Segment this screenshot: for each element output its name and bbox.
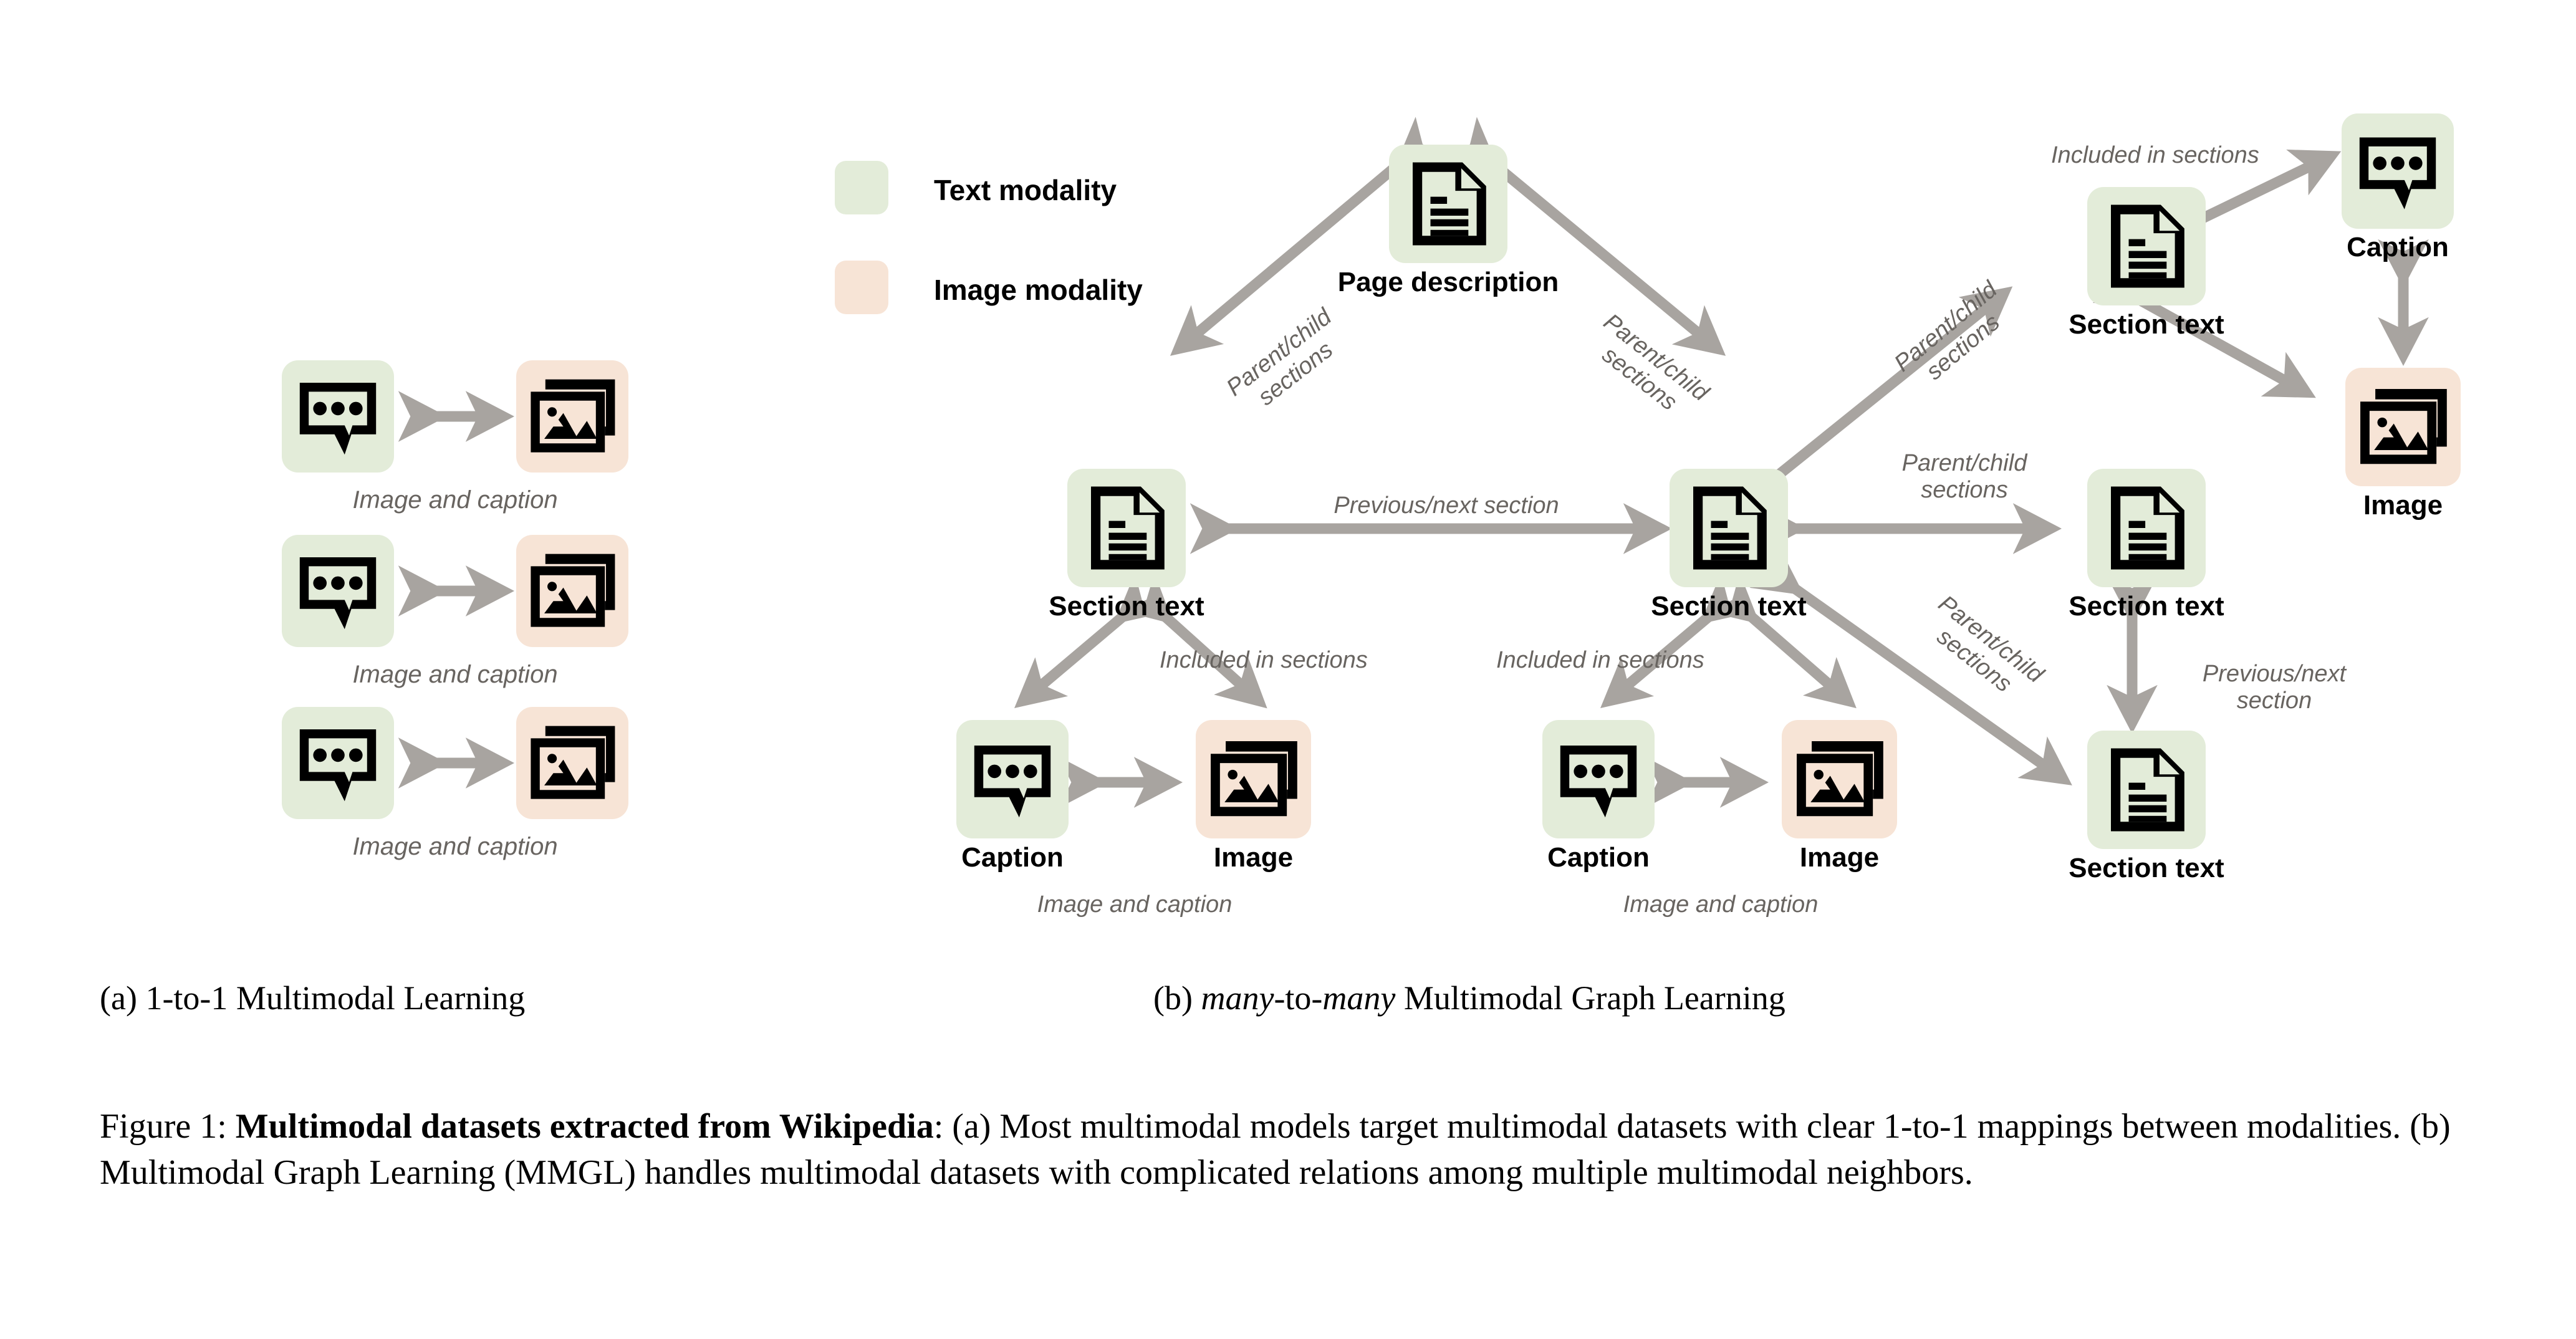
- legend-swatch-text: [835, 161, 888, 214]
- panel-a-row3-edge-label: Image and caption: [282, 833, 628, 861]
- panel-a-row1-edge-label: Image and caption: [282, 486, 628, 514]
- subcaption-a-prefix: (a): [100, 979, 137, 1017]
- panel-a-row1-image-node[interactable]: [516, 360, 628, 473]
- speech-bubble-icon: [282, 535, 394, 647]
- node-section-text-upper-right[interactable]: Section text: [2087, 187, 2206, 305]
- edge-label-previous-next-middle: Previous/next section: [1297, 492, 1596, 519]
- speech-bubble-icon: [1542, 720, 1655, 838]
- subcaption-panel-b: (b) many-to-many Multimodal Graph Learni…: [1153, 979, 1785, 1017]
- node-image-middle[interactable]: Image: [1782, 720, 1897, 838]
- node-label-image-right: Image: [2363, 490, 2443, 521]
- node-caption-right[interactable]: Caption: [2342, 113, 2454, 229]
- node-label-section-text-right: Section text: [2069, 591, 2224, 622]
- node-section-text-bottom-right[interactable]: Section text: [2087, 731, 2206, 849]
- edge-label-parent-child-right: Parent/child sections: [1862, 450, 2067, 503]
- panel-a-row3-image-node[interactable]: [516, 707, 628, 819]
- arrow-seccenter-imgmid: [1752, 617, 1848, 701]
- node-section-text-right[interactable]: Section text: [2087, 469, 2206, 587]
- panel-a-row2-caption-node[interactable]: [282, 535, 394, 647]
- node-page-description[interactable]: Page description: [1389, 145, 1507, 263]
- edge-label-included-in-sections-upper-right: Included in sections: [2051, 142, 2259, 169]
- node-label-image-left: Image: [1214, 842, 1293, 873]
- subcaption-b-mid: -to-: [1274, 979, 1322, 1017]
- node-label-image-middle: Image: [1800, 842, 1879, 873]
- subcaption-panel-a: (a) 1-to-1 Multimodal Learning: [100, 979, 525, 1017]
- node-label-page-description: Page description: [1338, 267, 1559, 298]
- node-label-caption-left: Caption: [961, 842, 1064, 873]
- node-label-section-text-bottom-right: Section text: [2069, 853, 2224, 884]
- legend-label-text: Text modality: [934, 173, 1117, 207]
- image-stack-icon: [1782, 720, 1897, 838]
- legend-label-image: Image modality: [934, 273, 1143, 307]
- figure-root: Text modality Image modality Image and c…: [0, 0, 2576, 1339]
- document-icon: [1067, 469, 1186, 587]
- node-caption-left[interactable]: Caption: [956, 720, 1069, 838]
- image-stack-icon: [516, 360, 628, 473]
- edge-label-included-in-sections-left: Included in sections: [1160, 647, 1368, 674]
- node-label-caption-middle: Caption: [1547, 842, 1650, 873]
- subcaption-b-italic-1: many: [1201, 979, 1274, 1017]
- node-label-section-text-upper-right: Section text: [2069, 309, 2224, 340]
- speech-bubble-icon: [282, 707, 394, 819]
- document-icon: [1670, 469, 1788, 587]
- legend-swatch-image: [835, 261, 888, 314]
- speech-bubble-icon: [956, 720, 1069, 838]
- subcaption-b-tail: Multimodal Graph Learning: [1395, 979, 1785, 1017]
- subcaption-a-text: 1-to-1 Multimodal Learning: [145, 979, 525, 1017]
- node-image-right[interactable]: Image: [2345, 368, 2461, 486]
- figure-caption: Figure 1: Multimodal datasets extracted …: [100, 1103, 2487, 1196]
- node-image-left[interactable]: Image: [1196, 720, 1311, 838]
- node-section-text-left[interactable]: Section text: [1067, 469, 1186, 587]
- node-label-section-text-center: Section text: [1651, 591, 1806, 622]
- document-icon: [2087, 187, 2206, 305]
- image-stack-icon: [2345, 368, 2461, 486]
- speech-bubble-icon: [2342, 113, 2454, 229]
- document-icon: [1389, 145, 1507, 263]
- document-icon: [2087, 469, 2206, 587]
- panel-a-row3-caption-node[interactable]: [282, 707, 394, 819]
- figure-caption-prefix: Figure 1:: [100, 1107, 236, 1146]
- edge-label-included-in-sections-middle: Included in sections: [1496, 647, 1704, 674]
- panel-a-row2-edge-label: Image and caption: [282, 661, 628, 689]
- node-label-section-text-left: Section text: [1049, 591, 1204, 622]
- panel-a-row2-image-node[interactable]: [516, 535, 628, 647]
- document-icon: [2087, 731, 2206, 849]
- image-stack-icon: [516, 707, 628, 819]
- edge-label-image-and-caption-middle: Image and caption: [1559, 891, 1883, 918]
- image-stack-icon: [516, 535, 628, 647]
- node-caption-middle[interactable]: Caption: [1542, 720, 1655, 838]
- subcaption-b-prefix: (b): [1153, 979, 1193, 1017]
- node-label-caption-right: Caption: [2347, 232, 2449, 263]
- edge-label-image-and-caption-left: Image and caption: [973, 891, 1297, 918]
- node-section-text-center[interactable]: Section text: [1670, 469, 1788, 587]
- figure-caption-bold: Multimodal datasets extracted from Wikip…: [236, 1107, 934, 1146]
- image-stack-icon: [1196, 720, 1311, 838]
- edge-label-previous-next-right: Previous/next section: [2156, 661, 2393, 714]
- panel-a-row1-caption-node[interactable]: [282, 360, 394, 473]
- subcaption-b-italic-2: many: [1322, 979, 1395, 1017]
- speech-bubble-icon: [282, 360, 394, 473]
- arrow-secleft-capleft: [1022, 617, 1122, 701]
